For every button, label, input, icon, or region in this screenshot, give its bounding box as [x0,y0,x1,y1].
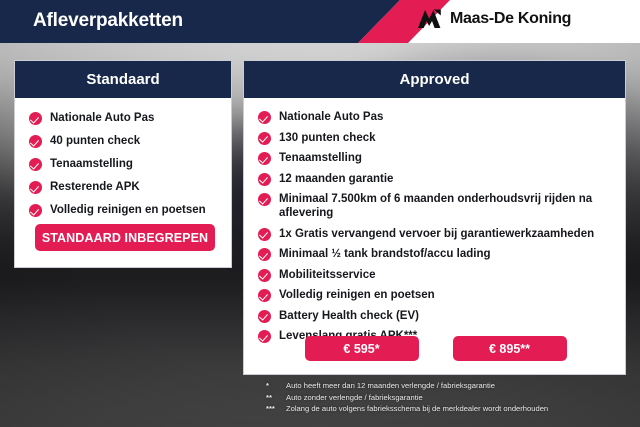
list-item: 12 maanden garantie [258,172,625,186]
check-circle-icon [258,132,271,145]
check-circle-icon [29,135,42,148]
list-item: Nationale Auto Pas [258,110,625,124]
check-circle-icon [258,289,271,302]
feature-label: 130 punten check [279,131,376,145]
feature-label: 12 maanden garantie [279,172,393,186]
feature-label: Nationale Auto Pas [50,111,154,125]
footnote-marker: *** [266,403,286,415]
page-title: Afleverpakketten [33,10,183,32]
check-circle-icon [258,248,271,261]
card-title-standaard: Standaard [15,61,231,98]
feature-label: Volledig reinigen en poetsen [279,288,435,302]
check-circle-icon [258,152,271,165]
feature-label: Volledig reinigen en poetsen [50,203,206,217]
footnote-marker: * [266,380,286,392]
list-item: Minimaal ½ tank brandstof/accu lading [258,247,625,261]
footnote-marker: ** [266,392,286,404]
list-item: Resterende APK [29,180,231,194]
check-circle-icon [29,181,42,194]
brand-name: Maas-De Koning [450,10,571,28]
price-button-595[interactable]: € 595* [305,336,419,361]
footnote-text: Auto zonder verlengde / fabrieksgarantie [286,392,423,404]
list-item: Tenaamstelling [258,151,625,165]
list-item: Volledig reinigen en poetsen [29,203,231,217]
list-item: 1x Gratis vervangend vervoer bij garanti… [258,227,625,241]
page-header: Afleverpakketten Maas-De Koning [0,0,640,43]
feature-label: 1x Gratis vervangend vervoer bij garanti… [279,227,594,241]
list-item: Nationale Auto Pas [29,111,231,125]
maas-de-koning-m-logo-icon [416,9,442,29]
feature-label: Battery Health check (EV) [279,309,419,323]
card-body-standaard: Nationale Auto Pas 40 punten check Tenaa… [15,98,231,217]
afleverpakketten-page: Afleverpakketten Maas-De Koning Standaar… [0,0,640,427]
footnotes: * Auto heeft meer dan 12 maanden verleng… [266,380,636,415]
list-item: Battery Health check (EV) [258,309,625,323]
price-button-895[interactable]: € 895** [453,336,567,361]
list-item: Tenaamstelling [29,157,231,171]
feature-label: Mobiliteitsservice [279,268,376,282]
price-button-row: € 595* € 895** [244,336,627,361]
check-circle-icon [258,228,271,241]
footnote-item: * Auto heeft meer dan 12 maanden verleng… [266,380,636,392]
feature-label: Tenaamstelling [279,151,362,165]
list-item: Minimaal 7.500km of 6 maanden onderhouds… [258,192,625,220]
package-card-approved: Approved Nationale Auto Pas 130 punten c… [243,60,626,375]
check-circle-icon [29,112,42,125]
brand-logo: Maas-De Koning [416,9,571,29]
standaard-inbegrepen-button[interactable]: STANDAARD INBEGREPEN [35,224,215,251]
footnote-item: ** Auto zonder verlengde / fabrieksgaran… [266,392,636,404]
feature-label: Nationale Auto Pas [279,110,383,124]
list-item: 40 punten check [29,134,231,148]
list-item: 130 punten check [258,131,625,145]
check-circle-icon [258,111,271,124]
feature-list-approved: Nationale Auto Pas 130 punten check Tena… [244,98,625,343]
feature-label: Minimaal 7.500km of 6 maanden onderhouds… [279,192,625,220]
feature-label: 40 punten check [50,134,140,148]
check-circle-icon [258,173,271,186]
feature-list-standaard: Nationale Auto Pas 40 punten check Tenaa… [15,98,231,217]
card-body-approved: Nationale Auto Pas 130 punten check Tena… [244,98,625,343]
check-circle-icon [258,193,271,206]
check-circle-icon [29,204,42,217]
footnote-item: *** Zolang de auto volgens fabrieksschem… [266,403,636,415]
list-item: Mobiliteitsservice [258,268,625,282]
check-circle-icon [29,158,42,171]
check-circle-icon [258,269,271,282]
check-circle-icon [258,310,271,323]
feature-label: Resterende APK [50,180,140,194]
footnote-text: Auto heeft meer dan 12 maanden verlengde… [286,380,495,392]
feature-label: Minimaal ½ tank brandstof/accu lading [279,247,491,261]
footnote-text: Zolang de auto volgens fabrieksschema bi… [286,403,548,415]
package-card-standaard: Standaard Nationale Auto Pas 40 punten c… [14,60,232,268]
list-item: Volledig reinigen en poetsen [258,288,625,302]
feature-label: Tenaamstelling [50,157,133,171]
card-title-approved: Approved [244,61,625,98]
